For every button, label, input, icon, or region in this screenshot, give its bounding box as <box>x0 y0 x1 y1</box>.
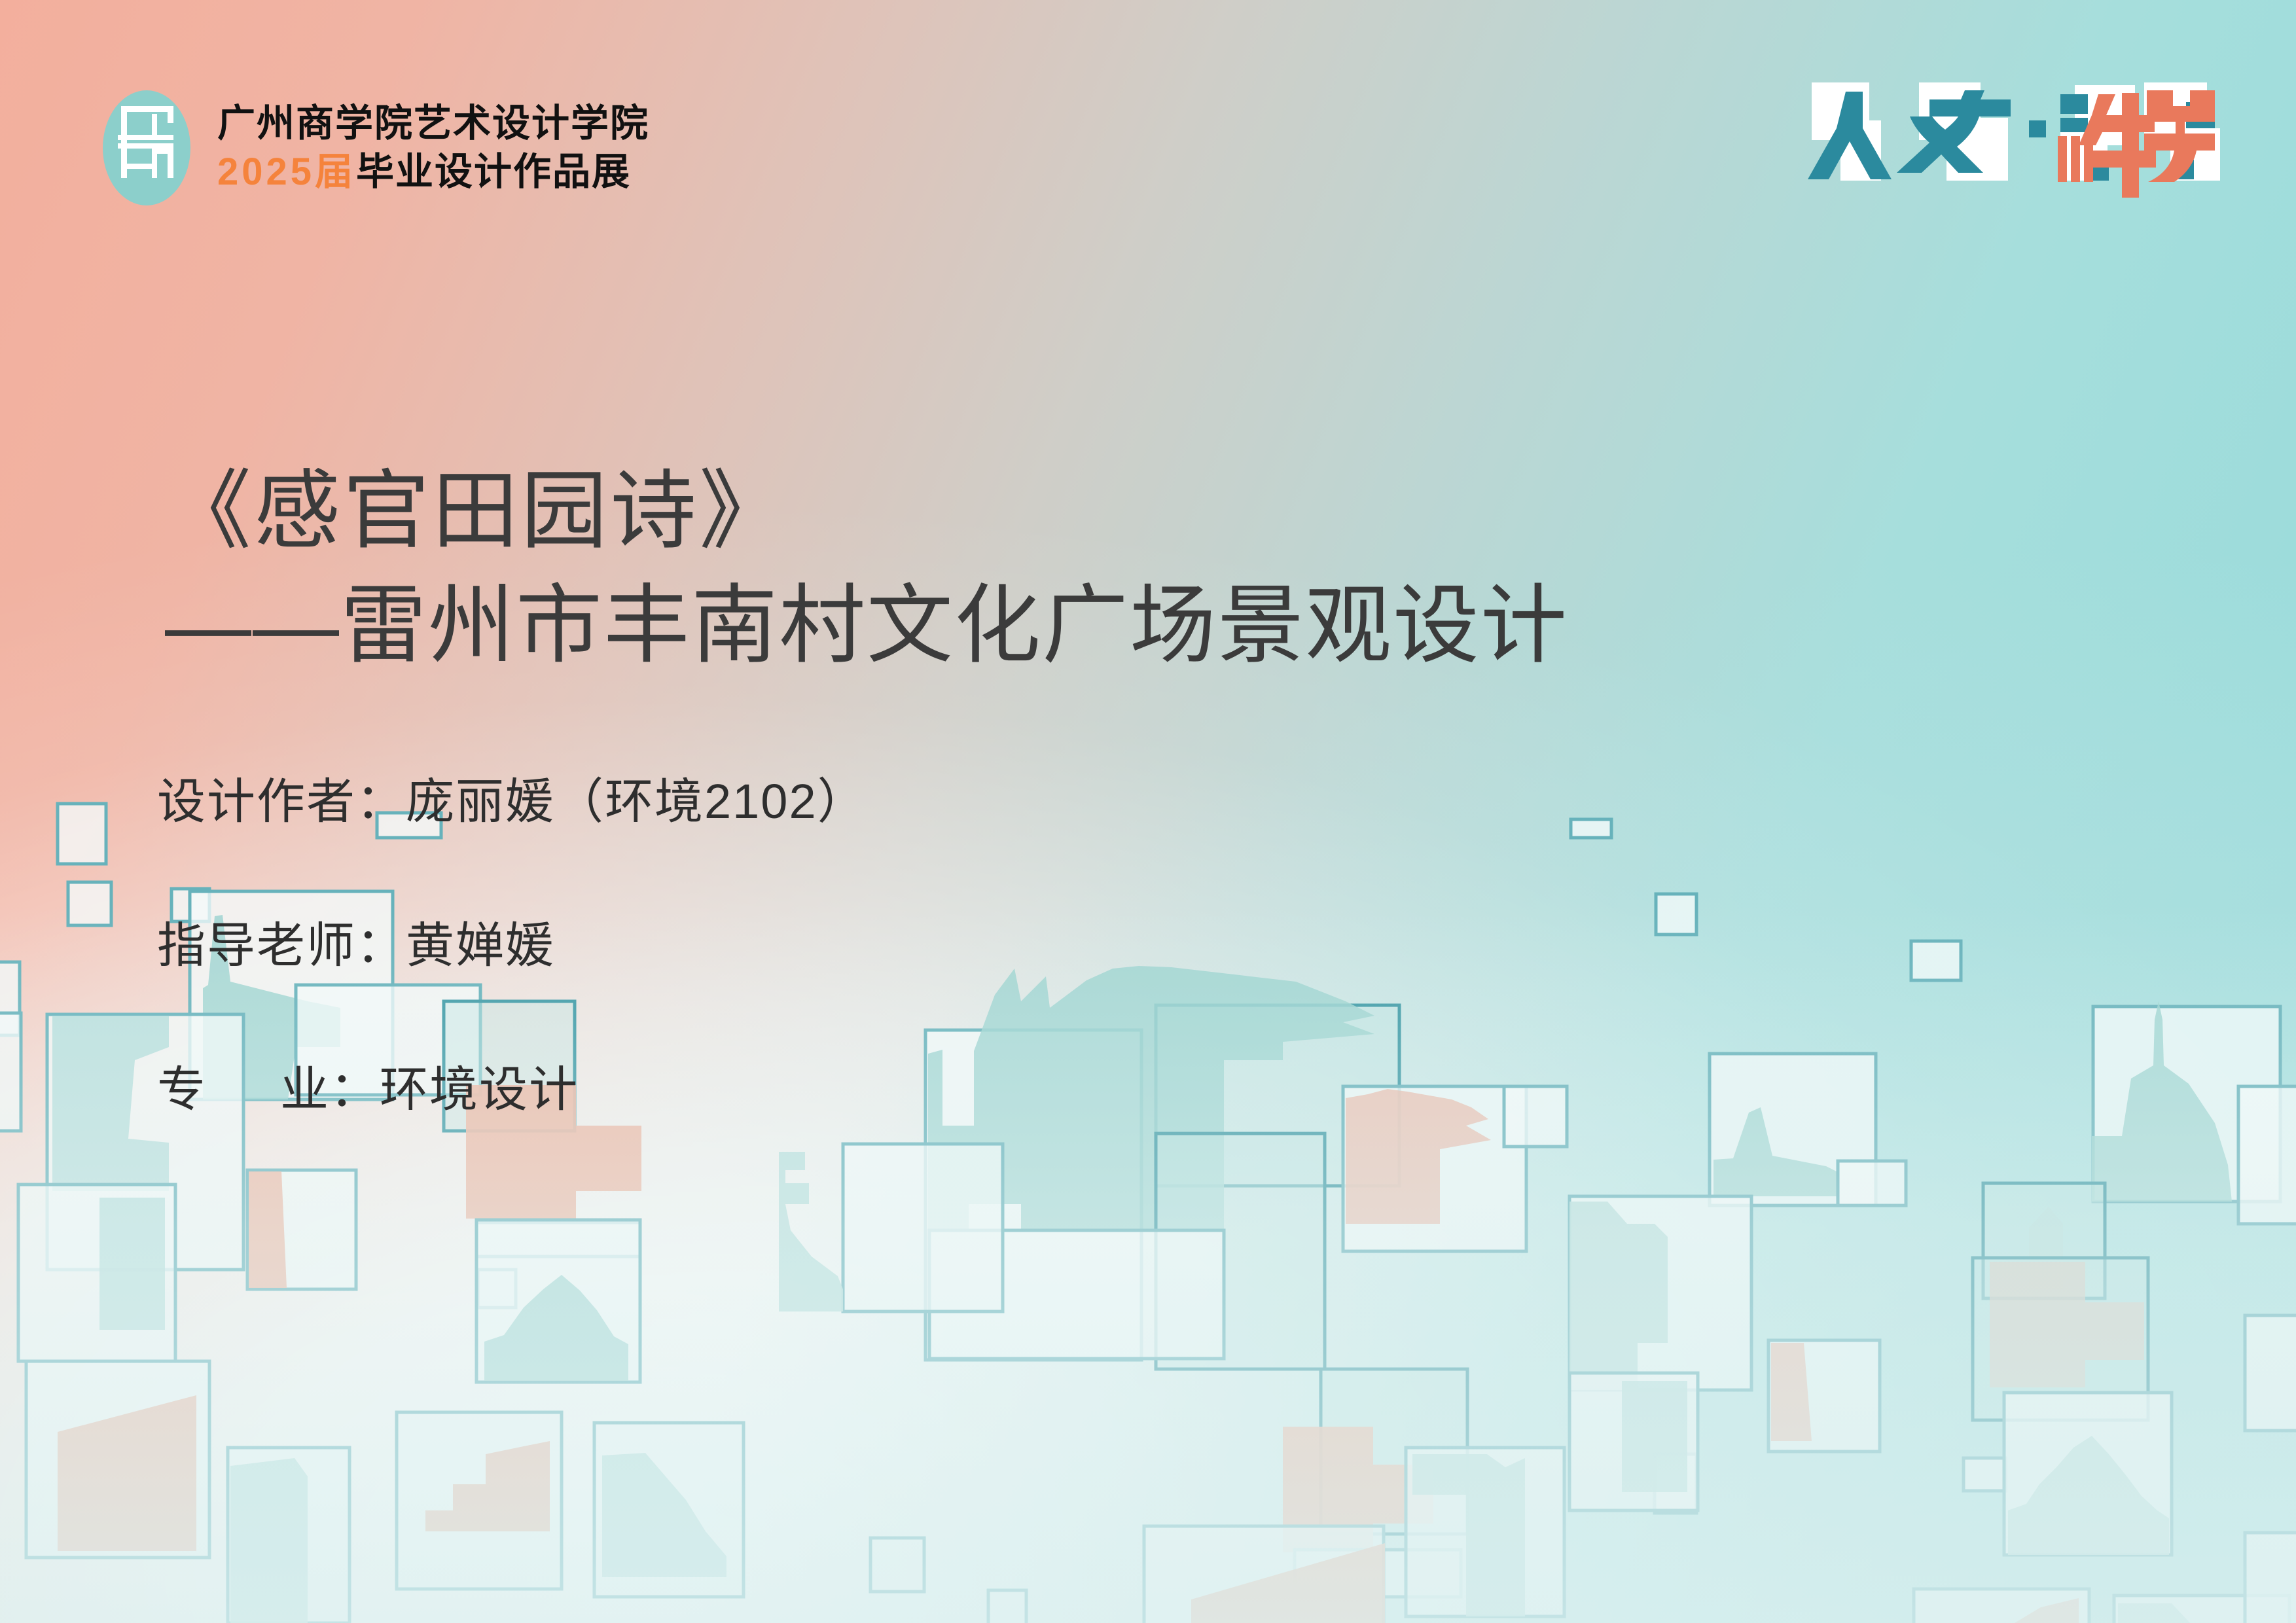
title-line-1: 《感官田园诗》 <box>165 458 1568 563</box>
humanities-science-wordmark-icon <box>1806 77 2225 202</box>
exhibition-title: 2025届毕业设计作品展 <box>217 153 649 191</box>
exhibition-year: 2025届 <box>217 151 356 193</box>
advisor-value: 黄婵媛 <box>406 918 555 972</box>
school-name: 广州商学院艺术设计学院 <box>217 105 649 143</box>
poster-canvas: .fr{fill:#f4fafa;fill-opacity:.78;stroke… <box>0 0 2296 1623</box>
major-label-a: 专 <box>157 1062 207 1116</box>
major-row: 专业：环境设计 <box>157 1050 867 1120</box>
header: 广州商学院艺术设计学院 2025届毕业设计作品展 <box>98 82 649 213</box>
exhibition-label: 毕业设计作品展 <box>356 151 631 193</box>
author-label: 设计作者： <box>157 774 406 829</box>
page-title: 《感官田园诗》 ——雷州市丰南村文化广场景观设计 <box>165 458 1568 678</box>
major-label-b: 业： <box>280 1062 380 1116</box>
advisor-label: 指导老师： <box>157 918 406 972</box>
advisor-row: 指导老师：黄婵媛 <box>157 906 867 976</box>
major-value: 环境设计 <box>380 1062 579 1116</box>
author-value: 庞丽媛（环境2102） <box>406 774 867 829</box>
header-text: 广州商学院艺术设计学院 2025届毕业设计作品展 <box>217 105 649 191</box>
author-row: 设计作者：庞丽媛（环境2102） <box>157 762 867 832</box>
meta-info: 设计作者：庞丽媛（环境2102） 指导老师：黄婵媛 专业：环境设计 <box>157 762 867 1120</box>
title-line-2: ——雷州市丰南村文化广场景观设计 <box>165 573 1568 678</box>
institution-seal-icon <box>98 82 195 213</box>
